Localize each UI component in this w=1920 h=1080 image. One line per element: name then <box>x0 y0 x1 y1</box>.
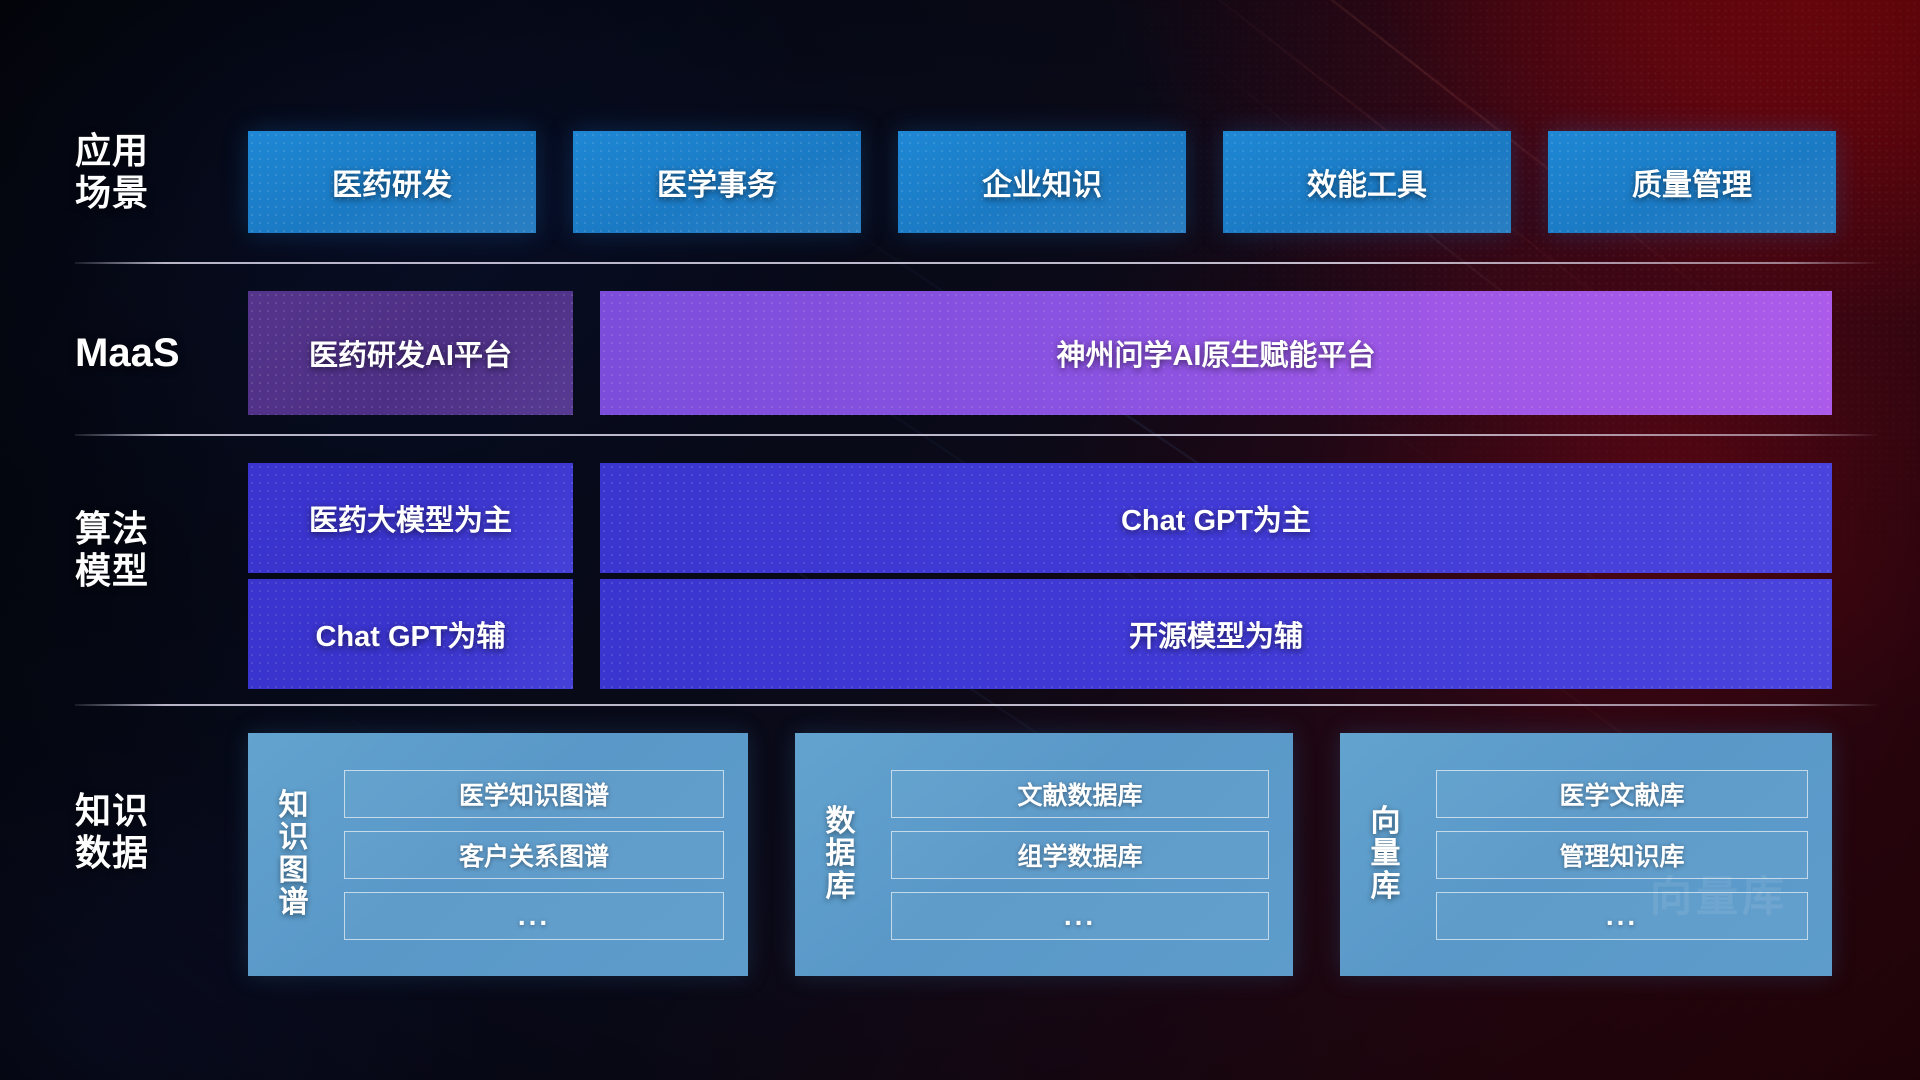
knowledge-group-title-3-char-0: 向 <box>1371 806 1402 838</box>
row-label-application: 应用 场景 <box>75 130 245 214</box>
knowledge-item-3-2[interactable]: 管理知识库 <box>1436 831 1808 879</box>
knowledge-group-title-1-char-0: 知 <box>279 790 310 822</box>
divider-algorithm-knowledge <box>75 704 1880 706</box>
divider-maas-algorithm <box>75 434 1880 436</box>
knowledge-item-3-1[interactable]: 医学文献库 <box>1436 770 1808 818</box>
knowledge-item-2-1[interactable]: 文献数据库 <box>891 770 1269 818</box>
algorithm-label-right-1: Chat GPT为主 <box>1121 497 1311 539</box>
knowledge-group-items-3: 医学文献库 管理知识库 ... <box>1418 770 1816 940</box>
knowledge-item-1-2[interactable]: 客户关系图谱 <box>344 831 724 879</box>
row-label-knowledge-line2: 数据 <box>75 832 245 874</box>
knowledge-item-3-3[interactable]: ... <box>1436 892 1808 940</box>
knowledge-item-2-3[interactable]: ... <box>891 892 1269 940</box>
divider-application-maas <box>75 262 1880 264</box>
app-scenario-label-4: 效能工具 <box>1307 160 1427 204</box>
app-scenario-box-5[interactable]: 质量管理 <box>1548 131 1836 233</box>
knowledge-group-items-2: 文献数据库 组学数据库 ... <box>873 770 1277 940</box>
knowledge-group-knowledge-graph[interactable]: 知 识 图 谱 医学知识图谱 客户关系图谱 ... <box>248 733 748 976</box>
architecture-diagram: 应用 场景 医药研发 医学事务 企业知识 效能工具 质量管理 MaaS 医药研发… <box>0 0 1920 1080</box>
knowledge-group-title-1: 知 识 图 谱 <box>262 790 326 918</box>
row-label-knowledge-line1: 知识 <box>75 790 245 832</box>
algorithm-box-right-2[interactable]: 开源模型为辅 <box>600 579 1832 689</box>
knowledge-group-title-2: 数 据 库 <box>809 806 873 902</box>
app-scenario-label-1: 医药研发 <box>332 160 452 204</box>
algorithm-box-right-1[interactable]: Chat GPT为主 <box>600 463 1832 573</box>
knowledge-item-1-1[interactable]: 医学知识图谱 <box>344 770 724 818</box>
knowledge-group-title-2-char-0: 数 <box>826 806 857 838</box>
knowledge-group-database[interactable]: 数 据 库 文献数据库 组学数据库 ... <box>795 733 1293 976</box>
app-scenario-box-2[interactable]: 医学事务 <box>573 131 861 233</box>
algorithm-box-left-2[interactable]: Chat GPT为辅 <box>248 579 573 689</box>
knowledge-group-vector-store[interactable]: 向量库 向 量 库 医学文献库 管理知识库 ... <box>1340 733 1832 976</box>
maas-platform-label-right: 神州问学AI原生赋能平台 <box>1056 332 1375 374</box>
maas-platform-box-left[interactable]: 医药研发AI平台 <box>248 291 573 415</box>
maas-platform-label-left: 医药研发AI平台 <box>309 332 512 374</box>
knowledge-group-title-3-char-1: 量 <box>1371 838 1402 870</box>
knowledge-group-title-1-char-2: 图 <box>279 855 310 887</box>
row-label-knowledge: 知识 数据 <box>75 790 245 874</box>
app-scenario-label-3: 企业知识 <box>982 160 1102 204</box>
knowledge-group-items-1: 医学知识图谱 客户关系图谱 ... <box>326 770 732 940</box>
knowledge-group-title-3: 向 量 库 <box>1354 806 1418 902</box>
app-scenario-label-2: 医学事务 <box>657 160 777 204</box>
algorithm-label-right-2: 开源模型为辅 <box>1129 613 1303 655</box>
row-label-maas-text: MaaS <box>75 330 245 376</box>
algorithm-label-left-2: Chat GPT为辅 <box>315 613 505 655</box>
knowledge-group-title-2-char-1: 据 <box>826 838 857 870</box>
algorithm-label-left-1: 医药大模型为主 <box>309 497 512 539</box>
knowledge-group-title-1-char-1: 识 <box>279 822 310 854</box>
row-label-algorithm-line2: 模型 <box>75 550 245 592</box>
app-scenario-box-3[interactable]: 企业知识 <box>898 131 1186 233</box>
row-label-maas: MaaS <box>75 330 245 376</box>
row-label-application-line2: 场景 <box>75 172 245 214</box>
app-scenario-box-4[interactable]: 效能工具 <box>1223 131 1511 233</box>
row-label-application-line1: 应用 <box>75 130 245 172</box>
row-label-algorithm: 算法 模型 <box>75 508 245 592</box>
app-scenario-label-5: 质量管理 <box>1632 160 1752 204</box>
row-label-algorithm-line1: 算法 <box>75 508 245 550</box>
knowledge-item-1-3[interactable]: ... <box>344 892 724 940</box>
knowledge-group-title-3-char-2: 库 <box>1371 871 1402 903</box>
algorithm-box-left-1[interactable]: 医药大模型为主 <box>248 463 573 573</box>
knowledge-group-title-2-char-2: 库 <box>826 871 857 903</box>
knowledge-item-2-2[interactable]: 组学数据库 <box>891 831 1269 879</box>
maas-platform-box-right[interactable]: 神州问学AI原生赋能平台 <box>600 291 1832 415</box>
app-scenario-box-1[interactable]: 医药研发 <box>248 131 536 233</box>
knowledge-group-title-1-char-3: 谱 <box>279 887 310 919</box>
